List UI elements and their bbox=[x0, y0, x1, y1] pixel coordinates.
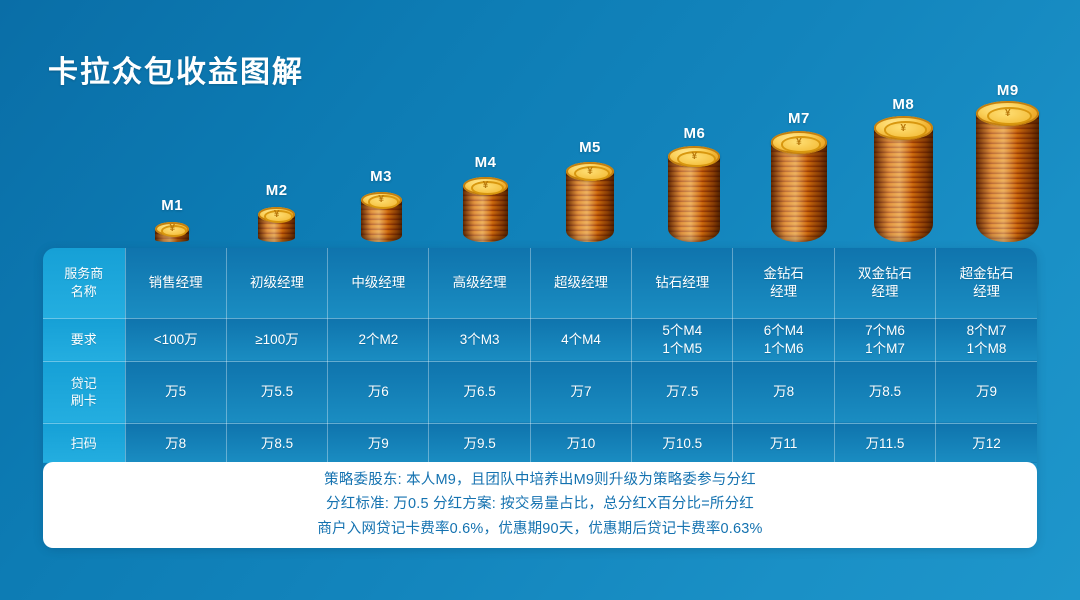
coin-stack-body bbox=[874, 128, 933, 242]
row-header-credit-card: 贷记刷卡 bbox=[43, 361, 125, 423]
coin-face-icon bbox=[463, 177, 508, 195]
cell-scan-code-1: 万8 bbox=[125, 423, 226, 463]
row-header-scan-code: 扫码 bbox=[43, 423, 125, 463]
coin-face-icon bbox=[771, 131, 827, 153]
coin-stack-m2: M2 bbox=[258, 182, 296, 242]
note-panel: 策略委股东: 本人M9，且团队中培养出M9则升级为策略委参与分红 分红标准: 万… bbox=[43, 462, 1037, 548]
coin-face-icon bbox=[258, 207, 296, 222]
cell-scan-code-2: 万8.5 bbox=[226, 423, 327, 463]
cell-scan-code-3: 万9 bbox=[328, 423, 429, 463]
coin-stack-label-m9: M9 bbox=[997, 82, 1019, 99]
table-row: 贷记刷卡万5万5.5万6万6.5万7万7.5万8万8.5万9 bbox=[43, 361, 1037, 423]
coin-stack-m9: M9 bbox=[976, 82, 1039, 242]
cell-requirement-1: <100万 bbox=[125, 318, 226, 361]
column-header-6: 钻石经理 bbox=[632, 248, 733, 318]
coin-stack-m3: M3 bbox=[361, 168, 402, 242]
cell-scan-code-6: 万10.5 bbox=[632, 423, 733, 463]
coin-stack-m4: M4 bbox=[463, 154, 508, 242]
coin-icon-stack bbox=[258, 203, 296, 242]
coin-icon-stack bbox=[155, 218, 189, 242]
coin-face-icon bbox=[874, 116, 933, 140]
coin-stack-body bbox=[566, 171, 614, 242]
coin-icon-stack bbox=[874, 117, 933, 242]
coin-stack-label-m3: M3 bbox=[370, 168, 392, 185]
coin-icon-stack bbox=[976, 103, 1039, 242]
coin-icon-stack bbox=[566, 160, 614, 242]
table-header-row: 服务商名称销售经理初级经理中级经理高级经理超级经理钻石经理金钻石经理双金钻石经理… bbox=[43, 248, 1037, 318]
coin-stack-chart: M1M2M3M4M5M6M7M8M9 bbox=[120, 60, 1060, 242]
cell-scan-code-5: 万10 bbox=[530, 423, 631, 463]
table-row: 扫码万8万8.5万9万9.5万10万10.5万11万11.5万12 bbox=[43, 423, 1037, 463]
cell-credit-card-2: 万5.5 bbox=[226, 361, 327, 423]
column-header-7: 金钻石经理 bbox=[733, 248, 834, 318]
row-header-name: 服务商名称 bbox=[43, 248, 125, 318]
coin-stack-label-m6: M6 bbox=[684, 125, 706, 142]
cell-scan-code-7: 万11 bbox=[733, 423, 834, 463]
column-header-9: 超金钻石经理 bbox=[936, 248, 1037, 318]
note-line-1: 策略委股东: 本人M9，且团队中培养出M9则升级为策略委参与分红 bbox=[324, 470, 756, 491]
cell-credit-card-9: 万9 bbox=[936, 361, 1037, 423]
coin-face-icon bbox=[668, 146, 720, 167]
cell-requirement-5: 4个M4 bbox=[530, 318, 631, 361]
coin-face-icon bbox=[155, 222, 189, 236]
coin-stack-label-m2: M2 bbox=[266, 182, 288, 199]
coin-stack-m8: M8 bbox=[874, 96, 933, 242]
cell-scan-code-8: 万11.5 bbox=[834, 423, 935, 463]
coin-stack-m7: M7 bbox=[771, 110, 827, 242]
cell-scan-code-9: 万12 bbox=[936, 423, 1037, 463]
cell-credit-card-8: 万8.5 bbox=[834, 361, 935, 423]
coin-stack-body bbox=[771, 142, 827, 242]
coin-icon-stack bbox=[771, 131, 827, 242]
coin-stack-label-m1: M1 bbox=[161, 197, 183, 214]
column-header-8: 双金钻石经理 bbox=[834, 248, 935, 318]
column-header-1: 销售经理 bbox=[125, 248, 226, 318]
column-header-2: 初级经理 bbox=[226, 248, 327, 318]
cell-credit-card-1: 万5 bbox=[125, 361, 226, 423]
coin-stack-body bbox=[668, 157, 720, 242]
cell-requirement-8: 7个M61个M7 bbox=[834, 318, 935, 361]
cell-scan-code-4: 万9.5 bbox=[429, 423, 530, 463]
cell-requirement-6: 5个M41个M5 bbox=[632, 318, 733, 361]
column-header-3: 中级经理 bbox=[328, 248, 429, 318]
row-header-requirement: 要求 bbox=[43, 318, 125, 361]
tier-table: 服务商名称销售经理初级经理中级经理高级经理超级经理钻石经理金钻石经理双金钻石经理… bbox=[43, 248, 1037, 463]
note-line-3: 商户入网贷记卡费率0.6%，优惠期90天，优惠期后贷记卡费率0.63% bbox=[317, 519, 762, 540]
column-header-5: 超级经理 bbox=[530, 248, 631, 318]
coin-stack-body bbox=[976, 114, 1039, 242]
cell-requirement-4: 3个M3 bbox=[429, 318, 530, 361]
cell-credit-card-3: 万6 bbox=[328, 361, 429, 423]
cell-requirement-3: 2个M2 bbox=[328, 318, 429, 361]
note-line-2: 分红标准: 万0.5 分红方案: 按交易量占比，总分红X百分比=所分红 bbox=[326, 494, 754, 515]
cell-requirement-9: 8个M71个M8 bbox=[936, 318, 1037, 361]
cell-credit-card-7: 万8 bbox=[733, 361, 834, 423]
coin-stack-m1: M1 bbox=[155, 197, 189, 242]
coin-face-icon bbox=[976, 101, 1039, 126]
cell-requirement-2: ≥100万 bbox=[226, 318, 327, 361]
coin-stack-label-m4: M4 bbox=[475, 154, 497, 171]
coin-stack-label-m8: M8 bbox=[892, 96, 914, 113]
coin-stack-label-m7: M7 bbox=[788, 110, 810, 127]
cell-requirement-7: 6个M41个M6 bbox=[733, 318, 834, 361]
coin-icon-stack bbox=[463, 175, 508, 242]
coin-stack-m6: M6 bbox=[668, 125, 720, 242]
coin-stack-label-m5: M5 bbox=[579, 139, 601, 156]
coin-icon-stack bbox=[668, 146, 720, 242]
table-row: 要求<100万≥100万2个M23个M34个M45个M41个M56个M41个M6… bbox=[43, 318, 1037, 361]
column-header-4: 高级经理 bbox=[429, 248, 530, 318]
coin-face-icon bbox=[566, 162, 614, 181]
coin-face-icon bbox=[361, 192, 402, 208]
cell-credit-card-6: 万7.5 bbox=[632, 361, 733, 423]
cell-credit-card-4: 万6.5 bbox=[429, 361, 530, 423]
cell-credit-card-5: 万7 bbox=[530, 361, 631, 423]
coin-stack-m5: M5 bbox=[566, 139, 614, 242]
coin-icon-stack bbox=[361, 189, 402, 242]
